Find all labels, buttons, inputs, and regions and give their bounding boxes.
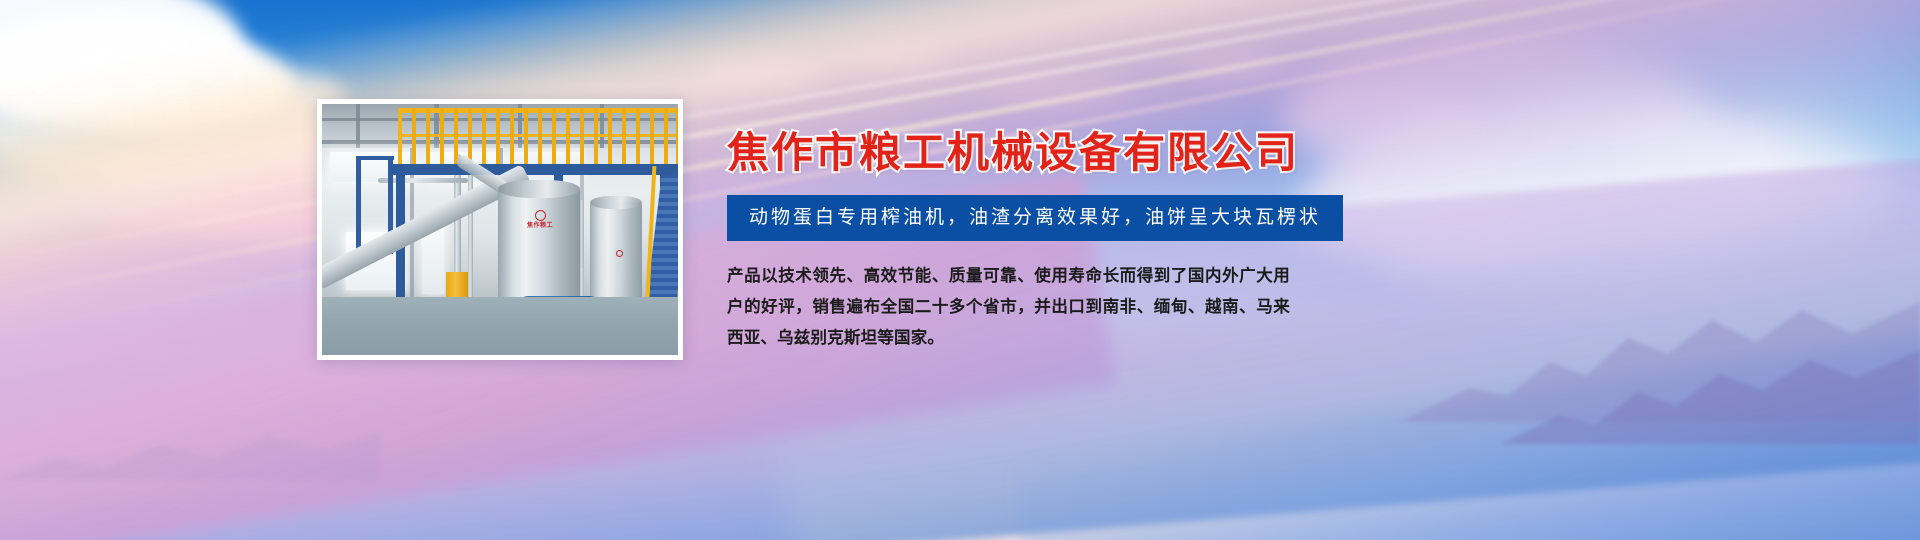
yellow-rail-post bbox=[454, 108, 458, 164]
yellow-rail-post bbox=[664, 108, 668, 164]
banner-copy-block: 焦作市粮工机械设备有限公司 动物蛋白专用榨油机，油渣分离效果好，油饼呈大块瓦楞状… bbox=[727, 128, 1827, 353]
logo-mark-icon bbox=[616, 250, 623, 257]
yellow-rail-post bbox=[510, 108, 514, 164]
yellow-rail-post bbox=[594, 108, 598, 164]
ceiling-beam bbox=[356, 104, 360, 148]
logo-mark-icon bbox=[535, 210, 546, 221]
tank-brand-logo: 焦作粮工 bbox=[518, 210, 562, 230]
product-photo-card: 焦作粮工 bbox=[317, 99, 683, 360]
yellow-rail-post bbox=[482, 108, 486, 164]
yellow-rail-post bbox=[676, 108, 678, 164]
vertical-pipe bbox=[468, 160, 473, 304]
yellow-rail-post bbox=[566, 108, 570, 164]
mountain-silhouette-icon bbox=[0, 410, 380, 480]
company-title: 焦作市粮工机械设备有限公司 bbox=[727, 128, 1827, 178]
yellow-rail-post bbox=[496, 108, 500, 164]
tank-brand-logo-small bbox=[608, 250, 630, 258]
yellow-rail-post bbox=[524, 108, 528, 164]
yellow-rail-post bbox=[468, 108, 472, 164]
mezzanine-deck bbox=[390, 164, 678, 175]
yellow-rail-post bbox=[636, 108, 640, 164]
yellow-rail-post bbox=[426, 108, 430, 164]
blue-post bbox=[356, 156, 361, 254]
tank-top-dome bbox=[590, 196, 642, 209]
product-photo: 焦作粮工 bbox=[322, 104, 678, 355]
yellow-rail-post bbox=[538, 108, 542, 164]
yellow-rail-post bbox=[608, 108, 612, 164]
factory-floor bbox=[322, 297, 678, 355]
yellow-rail-post bbox=[580, 108, 584, 164]
tank-top-dome bbox=[498, 180, 580, 198]
yellow-rail-post bbox=[650, 108, 654, 164]
body-description: 产品以技术领先、高效节能、质量可靠、使用寿命长而得到了国内外广大用户的好评，销售… bbox=[727, 260, 1290, 353]
logo-text: 焦作粮工 bbox=[527, 222, 553, 229]
subtitle-highlight-bar: 动物蛋白专用榨油机，油渣分离效果好，油饼呈大块瓦楞状 bbox=[727, 195, 1343, 241]
yellow-rail-post bbox=[552, 108, 556, 164]
promotional-banner: 焦作粮工 焦作市粮工机械设备有限公司 动物蛋白专用榨油机 bbox=[0, 0, 1920, 540]
blue-rail bbox=[356, 156, 394, 160]
yellow-rail-post bbox=[440, 108, 444, 164]
yellow-rail-post bbox=[412, 108, 416, 164]
yellow-rail-post bbox=[622, 108, 626, 164]
